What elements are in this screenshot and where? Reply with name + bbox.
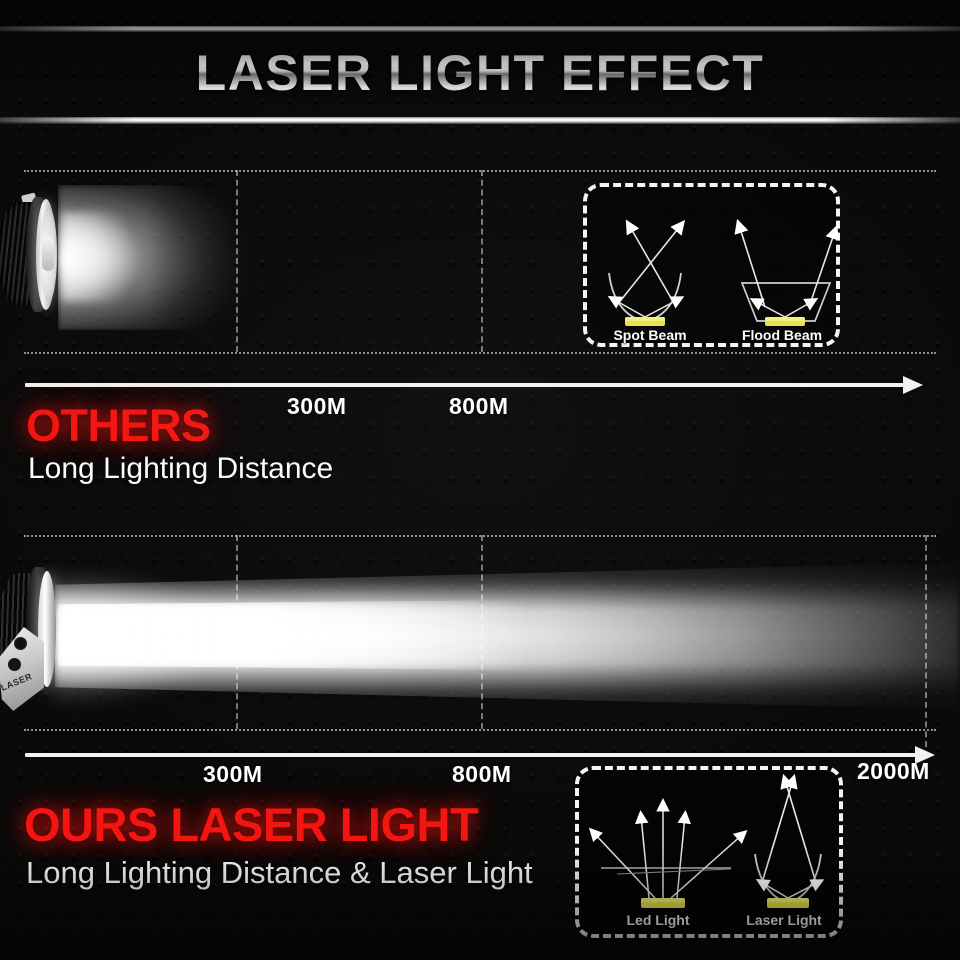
axis-tick-300m-2: 300M [203, 761, 263, 788]
guide-line-top-2 [24, 535, 936, 537]
axis-tick-800m-2: 800M [452, 761, 512, 788]
guide-line-800m-1 [481, 170, 483, 352]
inset-caption-laser-light: Laser Light [729, 912, 839, 928]
axis-tick-300m-1: 300M [287, 393, 347, 420]
header-banner: LASER LIGHT EFFECT [0, 0, 960, 140]
arrow-right-icon [903, 376, 923, 394]
others-subtitle: Long Lighting Distance [28, 452, 333, 486]
header-rule-top [0, 26, 960, 32]
inset-caption-led-light: Led Light [603, 912, 713, 928]
guide-line-bottom-1 [24, 352, 936, 354]
distance-axis-2 [25, 753, 920, 757]
others-title: OTHERS [26, 400, 211, 452]
lens-highlight [42, 237, 54, 271]
header-rule-bottom [0, 117, 960, 124]
page-title: LASER LIGHT EFFECT [0, 44, 960, 102]
inset-caption-spot-beam: Spot Beam [595, 327, 705, 343]
led-beam-core [62, 212, 152, 302]
bracket-bolt-upper [14, 637, 27, 650]
bracket-bolt-lower [8, 658, 21, 671]
ours-title: OURS LASER LIGHT [24, 797, 478, 852]
axis-tick-2000m-2: 2000M [857, 758, 930, 785]
axis-tick-800m-1: 800M [449, 393, 509, 420]
guide-line-top-1 [24, 170, 936, 172]
laser-bar-lamp: LASER [0, 565, 76, 710]
round-led-lamp [0, 197, 72, 312]
beam-type-inset-top: Spot Beam Flood Beam [583, 183, 840, 347]
laser-beam-glow [50, 575, 290, 700]
ours-subtitle: Long Lighting Distance & Laser Light [26, 855, 533, 891]
distance-axis-1 [25, 383, 910, 387]
infographic-canvas: LASER LIGHT EFFECT 300M 800M OTHERS Long… [0, 0, 960, 960]
guide-line-bottom-2 [24, 729, 936, 731]
beam-type-inset-bottom: Led Light Laser Light [575, 766, 843, 938]
inset-caption-flood-beam: Flood Beam [727, 327, 837, 343]
